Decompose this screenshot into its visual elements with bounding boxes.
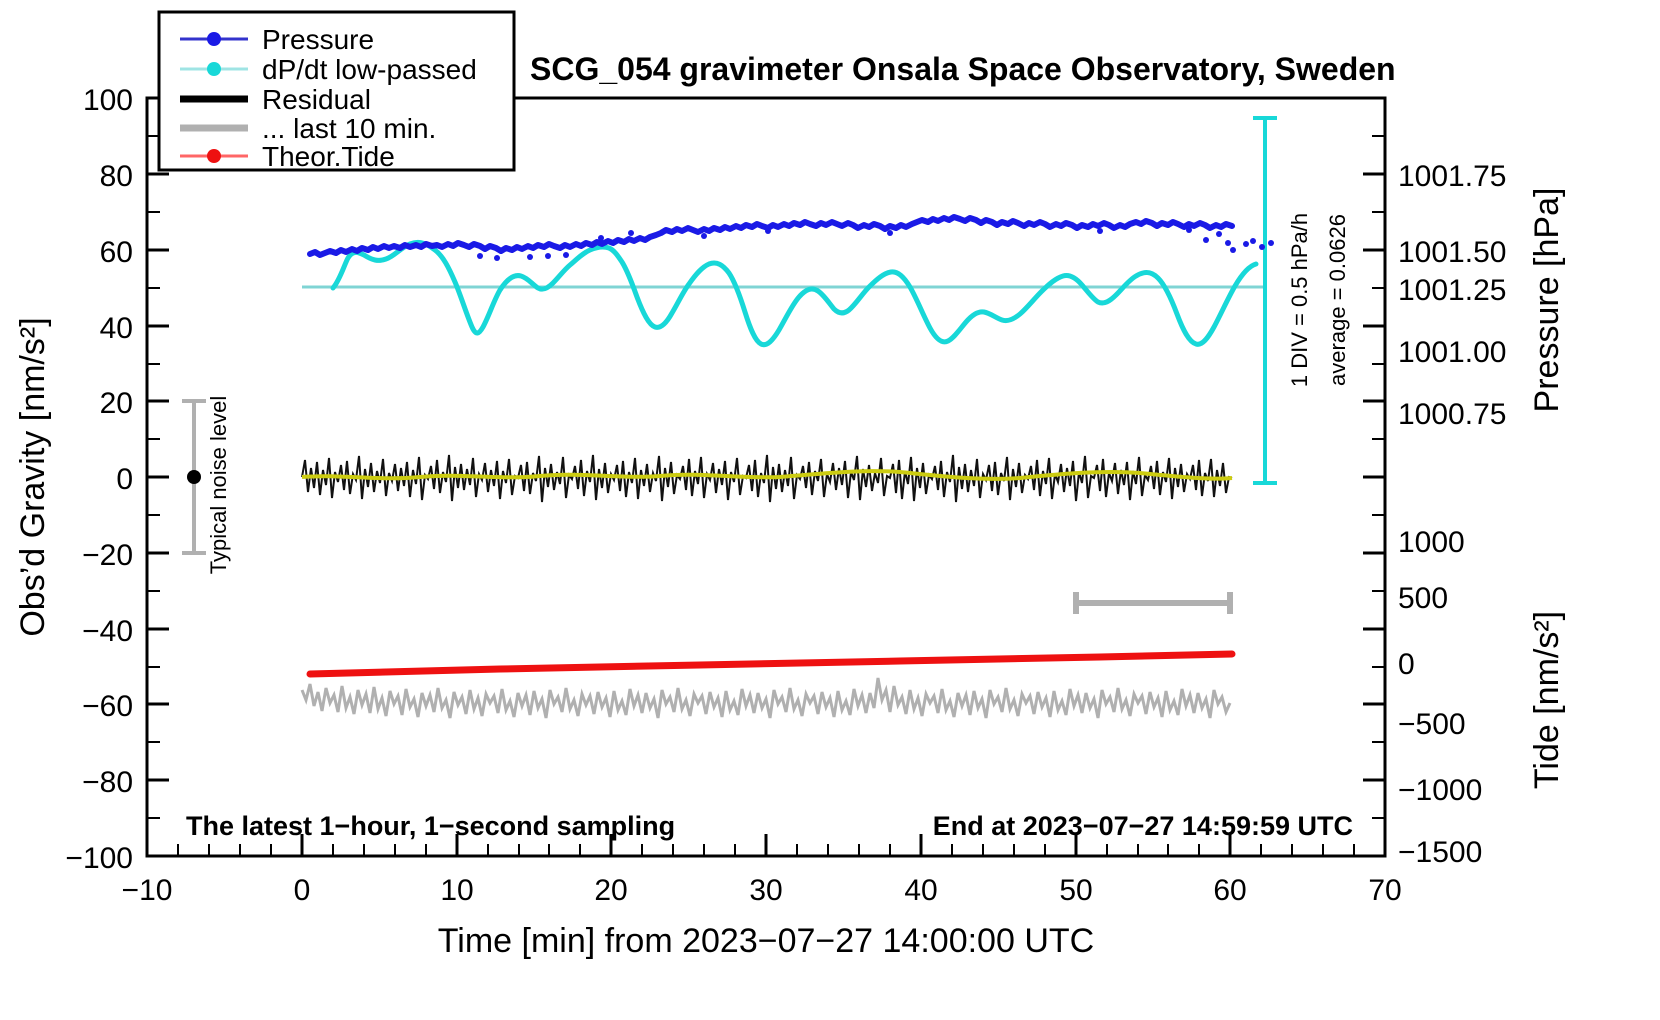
bottom-tick-0: −10 (122, 874, 173, 907)
bottom-tick-1: 0 (294, 874, 311, 907)
bottom-tick-6: 50 (1059, 874, 1092, 907)
tide-tick-0: 1000 (1398, 526, 1465, 559)
left-tick-5: 0 (116, 463, 133, 496)
left-tick-8: −60 (82, 690, 133, 723)
bottom-tick-2: 10 (440, 874, 473, 907)
pressure-tick-2: 1001.25 (1398, 274, 1506, 307)
gravimeter-chart: 100 80 60 40 20 0 −20 −40 −60 −80 −100 O… (0, 0, 1660, 1020)
pressure-tick-1: 1001.50 (1398, 236, 1506, 269)
tide-tick-2: 0 (1398, 648, 1415, 681)
average-label: average = 0.0626 (1325, 214, 1350, 386)
tide-tick-1: 500 (1398, 582, 1448, 615)
tide-tick-3: −500 (1398, 708, 1466, 741)
left-tick-9: −80 (82, 766, 133, 799)
tide-tick-5: −1500 (1398, 836, 1482, 869)
legend: Pressure dP/dt low-passed Residual ... l… (159, 12, 514, 172)
footer-left-note: The latest 1−hour, 1−second sampling (186, 811, 675, 841)
bottom-tick-8: 70 (1368, 874, 1401, 907)
left-tick-6: −20 (82, 539, 133, 572)
bottom-tick-5: 40 (904, 874, 937, 907)
typical-noise-level-label: Typical noise level (206, 396, 231, 575)
footer-right-note: End at 2023−07−27 14:59:59 UTC (933, 811, 1353, 841)
legend-label-last10min: ... last 10 min. (262, 113, 436, 144)
pressure-tick-4: 1000.75 (1398, 398, 1506, 431)
legend-swatch-dot-dpdt (207, 62, 221, 76)
right-tide-axis-title: Tide [nm/s²] (1528, 611, 1566, 789)
bottom-tick-7: 60 (1213, 874, 1246, 907)
legend-label-theortide: Theor.Tide (262, 141, 395, 172)
right-pressure-axis-title: Pressure [hPa] (1528, 188, 1566, 413)
left-tick-1: 80 (100, 160, 133, 193)
bottom-axis-title: Time [min] from 2023−07−27 14:00:00 UTC (438, 922, 1094, 960)
left-axis-title: Obs’d Gravity [nm/s²] (14, 317, 52, 636)
bottom-tick-3: 20 (594, 874, 627, 907)
left-tick-10: −100 (65, 842, 133, 875)
left-tick-2: 60 (100, 236, 133, 269)
chart-page: 100 80 60 40 20 0 −20 −40 −60 −80 −100 O… (0, 0, 1660, 1020)
left-tick-4: 20 (100, 387, 133, 420)
legend-swatch-dot-pressure (207, 32, 221, 46)
bottom-tick-4: 30 (749, 874, 782, 907)
tide-tick-4: −1000 (1398, 774, 1482, 807)
left-tick-7: −40 (82, 615, 133, 648)
page-title: SCG_054 gravimeter Onsala Space Observat… (530, 51, 1396, 87)
legend-label-dpdt: dP/dt low-passed (262, 54, 477, 85)
legend-label-residual: Residual (262, 84, 371, 115)
left-tick-0: 100 (83, 84, 133, 117)
left-tick-3: 40 (100, 312, 133, 345)
pressure-tick-3: 1001.00 (1398, 336, 1506, 369)
div-scale-label: 1 DIV = 0.5 hPa/h (1287, 213, 1312, 387)
pressure-tick-0: 1001.75 (1398, 160, 1506, 193)
legend-label-pressure: Pressure (262, 24, 374, 55)
legend-swatch-dot-theortide (207, 149, 221, 163)
typical-noise-level-dot (187, 470, 201, 484)
